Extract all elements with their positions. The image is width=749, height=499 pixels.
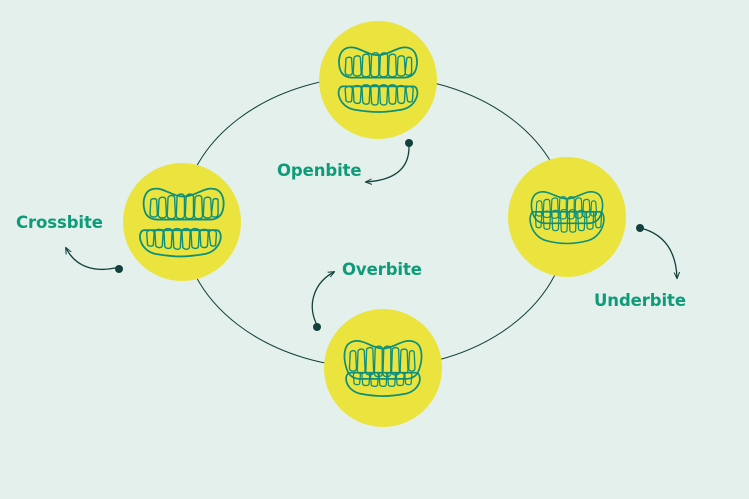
connector-overbite bbox=[312, 272, 334, 331]
connector-crossbite bbox=[66, 248, 123, 273]
node-circle-openbite[interactable] bbox=[319, 21, 437, 139]
infographic-canvas: Crossbite Openbite Overbite Underbite bbox=[0, 0, 749, 499]
label-underbite: Underbite bbox=[594, 293, 686, 310]
connector-underbite bbox=[636, 224, 677, 278]
connector-openbite bbox=[366, 139, 413, 182]
connector-dot-underbite bbox=[636, 224, 644, 232]
label-overbite: Overbite bbox=[342, 262, 422, 279]
connector-dot-openbite bbox=[405, 139, 413, 147]
connector-dot-crossbite bbox=[115, 265, 123, 273]
diagram-graphics bbox=[0, 0, 749, 499]
connector-dot-overbite bbox=[313, 323, 321, 331]
node-circle-crossbite[interactable] bbox=[123, 163, 241, 281]
label-openbite: Openbite bbox=[277, 163, 362, 180]
label-crossbite: Crossbite bbox=[16, 215, 103, 232]
